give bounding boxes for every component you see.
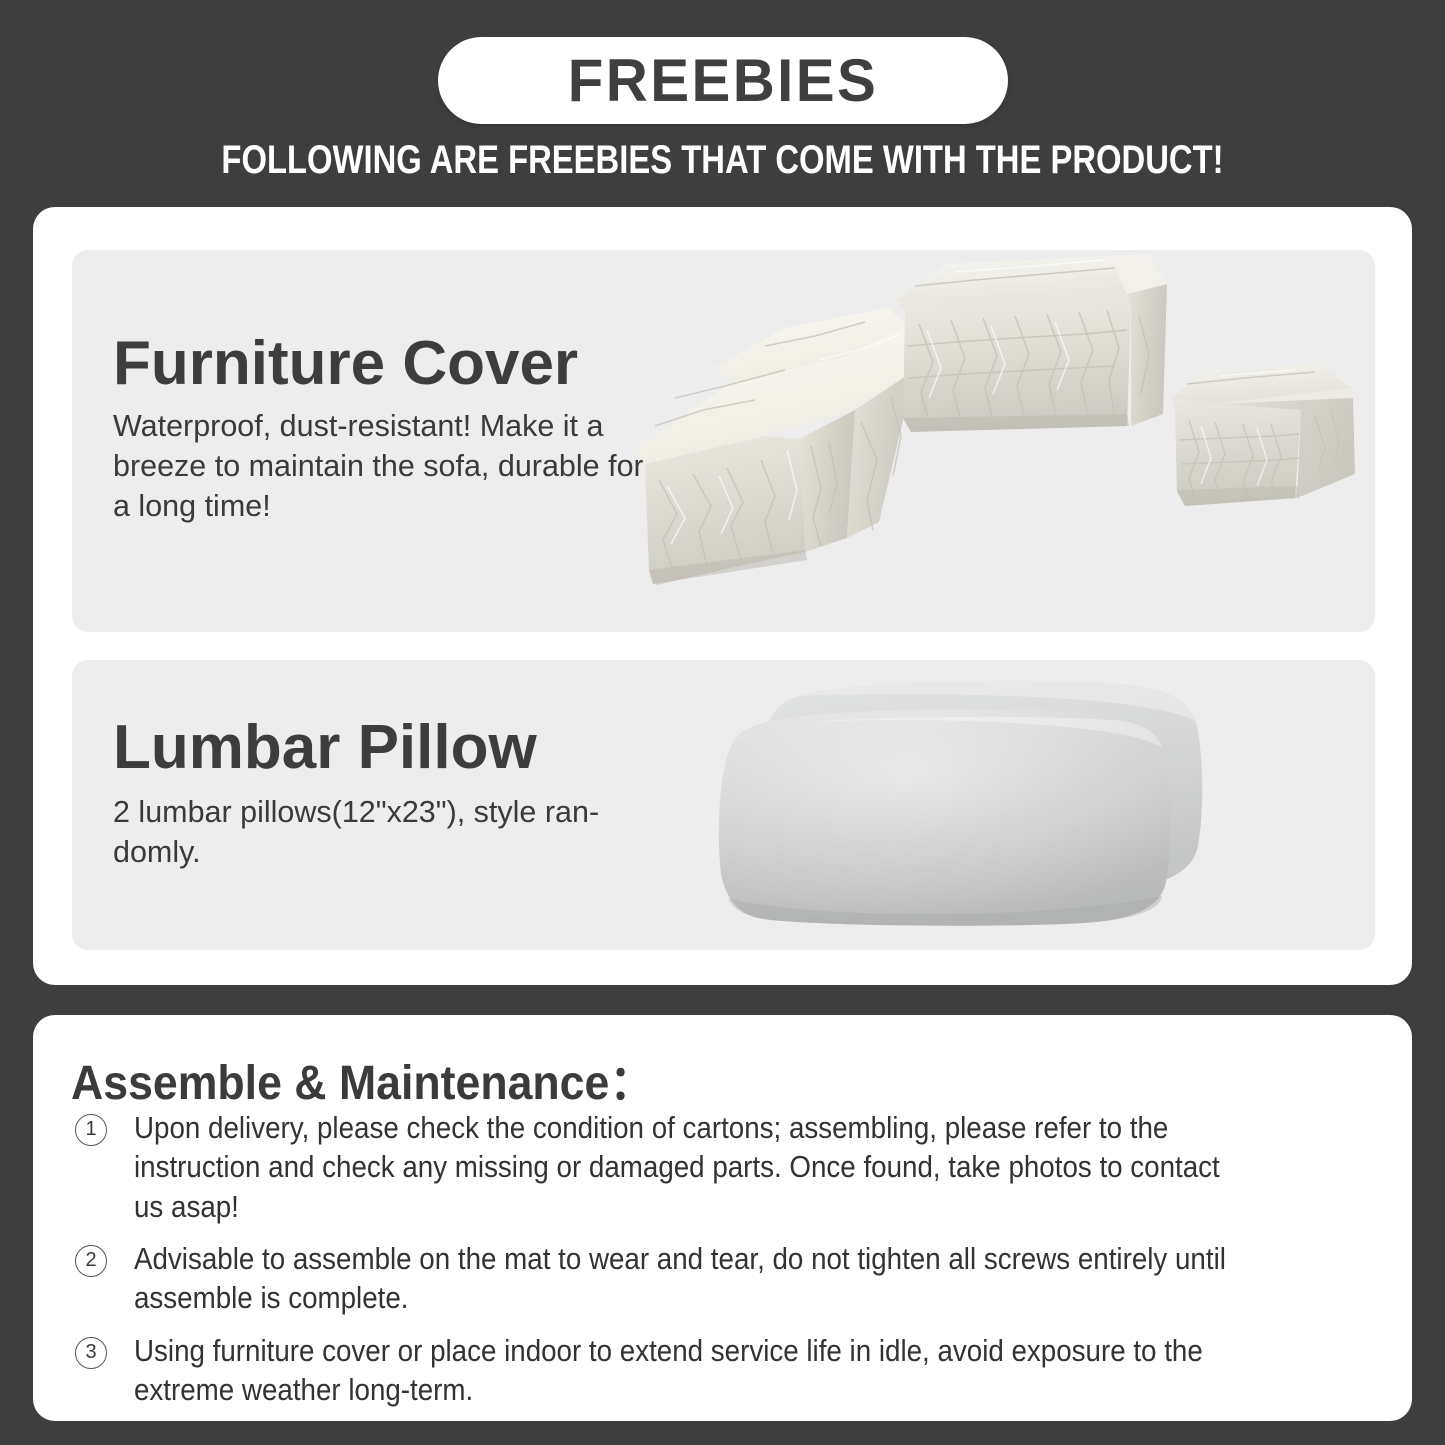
maintenance-item-text-2: Advisable to assemble on the mat to wear… <box>134 1239 1245 1318</box>
cover-piece-ottoman <box>1171 364 1355 506</box>
page-header: FREEBIES FOLLOWING ARE FREEBIES THAT COM… <box>0 0 1445 196</box>
freebies-card: Furniture Cover Waterproof, dust-resista… <box>33 207 1412 985</box>
maintenance-list-item: 1 Upon delivery, please check the condit… <box>75 1108 1375 1226</box>
furniture-cover-text-block: Furniture Cover Waterproof, dust-resista… <box>113 332 683 526</box>
freebies-title-text: FREEBIES <box>568 51 878 111</box>
freebies-title-badge: FREEBIES <box>438 37 1008 124</box>
lumbar-pillow-photo <box>712 660 1232 950</box>
maintenance-list: 1 Upon delivery, please check the condit… <box>75 1108 1375 1423</box>
maintenance-title: Assemble & Maintenance： <box>71 1043 654 1113</box>
list-marker-3: 3 <box>75 1337 107 1369</box>
lumbar-pillow-text-block: Lumbar Pillow 2 lumbar pillows(12"x23"),… <box>113 716 683 873</box>
freebie-panel-lumbar-pillow: Lumbar Pillow 2 lumbar pillows(12"x23"),… <box>72 660 1375 950</box>
furniture-cover-photo <box>615 250 1375 632</box>
cover-piece-sectional <box>633 308 915 585</box>
maintenance-item-text-3: Using furniture cover or place indoor to… <box>134 1331 1245 1410</box>
cover-piece-sofa <box>897 254 1167 432</box>
furniture-cover-title: Furniture Cover <box>113 332 683 395</box>
lumbar-pillow-title: Lumbar Pillow <box>113 716 683 779</box>
maintenance-list-item: 2 Advisable to assemble on the mat to we… <box>75 1239 1375 1318</box>
list-marker-2: 2 <box>75 1245 107 1277</box>
pillow-front <box>719 709 1170 926</box>
header-subtitle: FOLLOWING ARE FREEBIES THAT COME WITH TH… <box>130 138 1315 183</box>
furniture-cover-description: Waterproof, dust-resistant! Make it a br… <box>113 407 653 526</box>
maintenance-item-text-1: Upon delivery, please check the conditio… <box>134 1108 1245 1226</box>
freebie-panel-furniture-cover: Furniture Cover Waterproof, dust-resista… <box>72 250 1375 632</box>
maintenance-list-item: 3 Using furniture cover or place indoor … <box>75 1331 1375 1410</box>
list-marker-1: 1 <box>75 1114 107 1146</box>
maintenance-card: Assemble & Maintenance： 1 Upon delivery,… <box>33 1015 1412 1421</box>
lumbar-pillow-description: 2 lumbar pillows(12"x23"), style ran-dom… <box>113 793 653 872</box>
